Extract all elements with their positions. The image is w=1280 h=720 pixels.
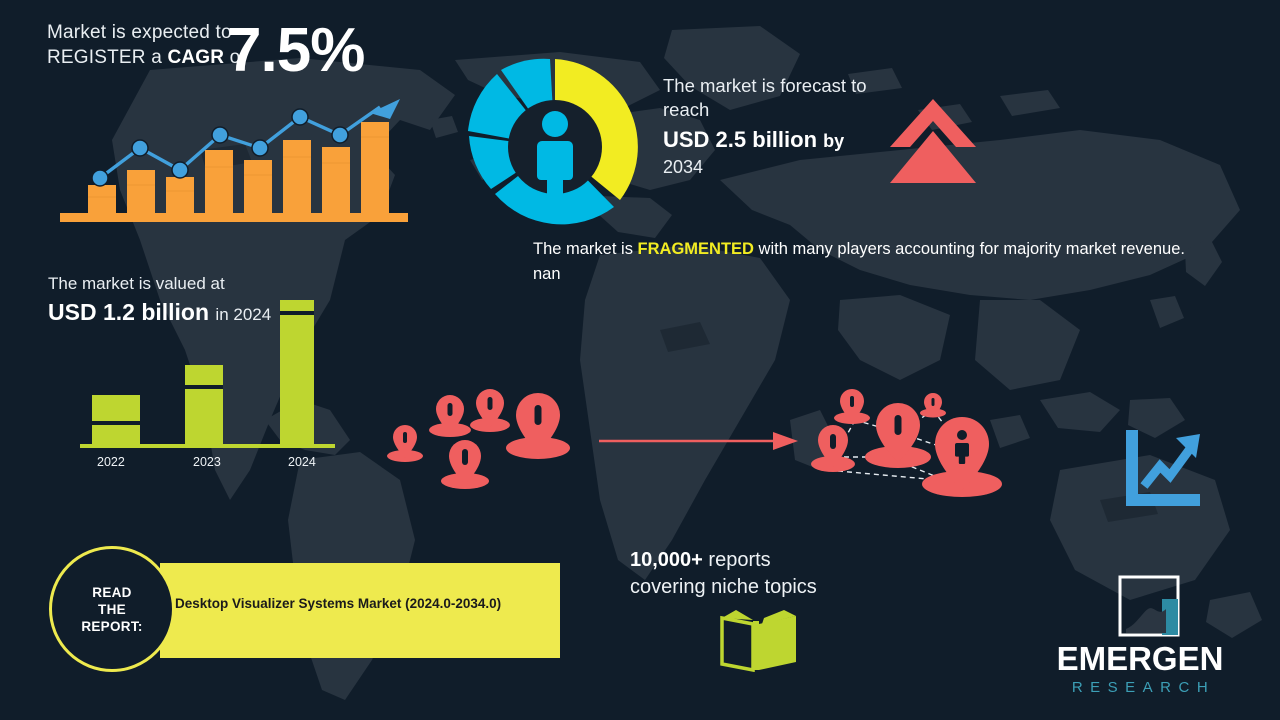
read-the-report-badge[interactable]: READTHEREPORT:: [49, 546, 175, 672]
read-the-report-label: READTHEREPORT:: [81, 584, 142, 635]
forecast-line-1: The market is forecast to reach: [663, 74, 893, 122]
location-pin-network-icon: [800, 385, 1020, 500]
green-label-2022: 2022: [97, 455, 125, 469]
cagr-keyword: CAGR: [167, 47, 224, 68]
growth-trend-chart: [60, 85, 420, 225]
location-pin-person-icon: [380, 385, 600, 495]
infographic-canvas: Market is expected to REGISTER a CAGR of…: [0, 0, 1280, 720]
forecast-year: 2034: [663, 156, 893, 179]
report-title: Desktop Visualizer Systems Market (2024.…: [175, 588, 505, 620]
green-label-2024: 2024: [288, 455, 316, 469]
logo-mark-icon: [1118, 575, 1180, 637]
frag-keyword: FRAGMENTED: [638, 240, 754, 258]
line-chart-up-icon: [1122, 428, 1204, 510]
logo-wordmark: EMERGEN: [1020, 641, 1260, 677]
reports-line2: covering niche topics: [630, 576, 817, 598]
open-book-icon: [718, 608, 800, 672]
bar-2024: [280, 300, 314, 445]
logo-subtext: RESEARCH: [1020, 679, 1260, 697]
double-chevron-up-icon: [888, 95, 978, 185]
green-baseline: [80, 444, 335, 448]
chart-baseline: [60, 213, 408, 222]
frag-pre: The market is: [533, 240, 638, 258]
forecast-text-block: The market is forecast to reach USD 2.5 …: [663, 74, 893, 179]
reports-text-block: 10,000+ reportscovering niche topics: [630, 547, 930, 601]
fragmentation-text: The market is FRAGMENTED with many playe…: [533, 237, 1213, 287]
forecast-by: by: [823, 131, 844, 151]
cagr-line2-pre: REGISTER a: [47, 47, 167, 68]
forecast-value-line: USD 2.5 billion by: [663, 125, 893, 156]
right-arrow-icon: [595, 428, 805, 454]
report-banner[interactable]: Desktop Visualizer Systems Market (2024.…: [160, 563, 560, 658]
green-label-2023: 2023: [193, 455, 221, 469]
valuation-line-1: The market is valued at: [48, 272, 378, 295]
reports-line1-rest: reports: [703, 549, 771, 571]
cagr-value: 7.5%: [227, 20, 364, 82]
forecast-value: USD 2.5 billion: [663, 127, 817, 152]
market-share-donut: [460, 52, 650, 242]
market-value-bars: [80, 295, 340, 455]
reports-count: 10,000+: [630, 549, 703, 571]
bar-2022: [92, 395, 140, 445]
bar-2023: [185, 365, 223, 445]
emergen-research-logo: EMERGEN RESEARCH: [1020, 575, 1260, 705]
